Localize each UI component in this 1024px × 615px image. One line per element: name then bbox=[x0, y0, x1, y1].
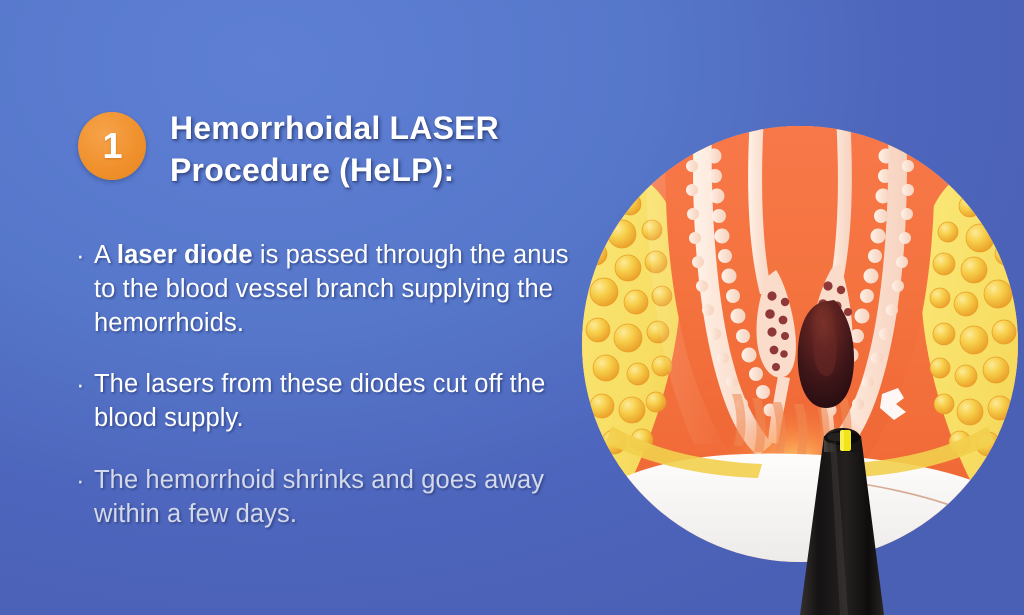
page-title-line-2: Procedure (HeLP): bbox=[170, 150, 570, 192]
step-number-badge: 1 bbox=[78, 112, 146, 180]
medical-illustration bbox=[582, 126, 1018, 562]
bullet-marker-icon: · bbox=[76, 463, 94, 497]
bullet-emphasis: laser diode bbox=[117, 241, 253, 269]
bullet-list: · A laser diode is passed through the an… bbox=[76, 238, 596, 555]
bullet-lead: A bbox=[94, 241, 117, 269]
bullet-marker-icon: · bbox=[76, 367, 94, 401]
list-item: · The lasers from these diodes cut off t… bbox=[76, 367, 596, 435]
bullet-marker-icon: · bbox=[76, 238, 94, 272]
page-title: Hemorrhoidal LASER Procedure (HeLP): bbox=[170, 108, 570, 191]
slide-canvas: 1 Hemorrhoidal LASER Procedure (HeLP): ·… bbox=[0, 0, 1024, 615]
bullet-text-2: The lasers from these diodes cut off the… bbox=[94, 367, 596, 435]
perianal-skin bbox=[622, 454, 982, 562]
illustration-disc bbox=[582, 126, 1018, 562]
step-number-label: 1 bbox=[78, 112, 146, 180]
bullet-text-3: The hemorrhoid shrinks and goes away wit… bbox=[94, 463, 596, 531]
bullet-text-1: A laser diode is passed through the anus… bbox=[94, 238, 596, 340]
list-item: · The hemorrhoid shrinks and goes away w… bbox=[76, 463, 596, 531]
list-item: · A laser diode is passed through the an… bbox=[76, 238, 596, 340]
page-title-line-1: Hemorrhoidal LASER bbox=[170, 110, 499, 146]
